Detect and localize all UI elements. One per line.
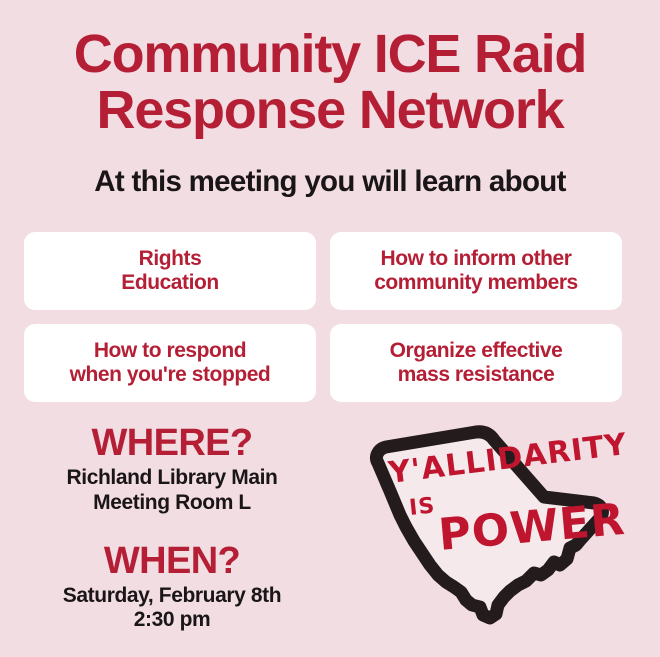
when-block: WHEN? Saturday, February 8th 2:30 pm	[22, 542, 322, 634]
where-block: WHERE? Richland Library Main Meeting Roo…	[22, 424, 322, 516]
topic-card-label: How to inform other community members	[374, 247, 578, 296]
south-carolina-state-outline-icon: Y'ALLIDARITY IS POWER	[348, 415, 638, 640]
topic-card: How to respond when you're stopped	[24, 324, 316, 402]
page-title: Community ICE Raid Response Network	[0, 26, 660, 138]
topic-card: Rights Education	[24, 232, 316, 310]
where-heading: WHERE?	[22, 424, 322, 462]
where-body: Richland Library Main Meeting Room L	[22, 466, 322, 516]
topic-card: Organize effective mass resistance	[330, 324, 622, 402]
topic-card-label: How to respond when you're stopped	[70, 339, 271, 388]
topic-card-label: Rights Education	[121, 247, 218, 296]
topic-card-label: Organize effective mass resistance	[390, 339, 563, 388]
when-heading: WHEN?	[22, 542, 322, 580]
svg-text:IS: IS	[408, 493, 437, 521]
subtitle: At this meeting you will learn about	[0, 166, 660, 198]
title-line-2: Response Network	[0, 82, 660, 138]
title-line-1: Community ICE Raid	[0, 26, 660, 82]
poster: Community ICE Raid Response Network At t…	[0, 0, 660, 657]
topic-card: How to inform other community members	[330, 232, 622, 310]
when-body: Saturday, February 8th 2:30 pm	[22, 584, 322, 634]
topics-grid: Rights Education How to inform other com…	[24, 232, 636, 402]
event-details: WHERE? Richland Library Main Meeting Roo…	[22, 424, 322, 633]
